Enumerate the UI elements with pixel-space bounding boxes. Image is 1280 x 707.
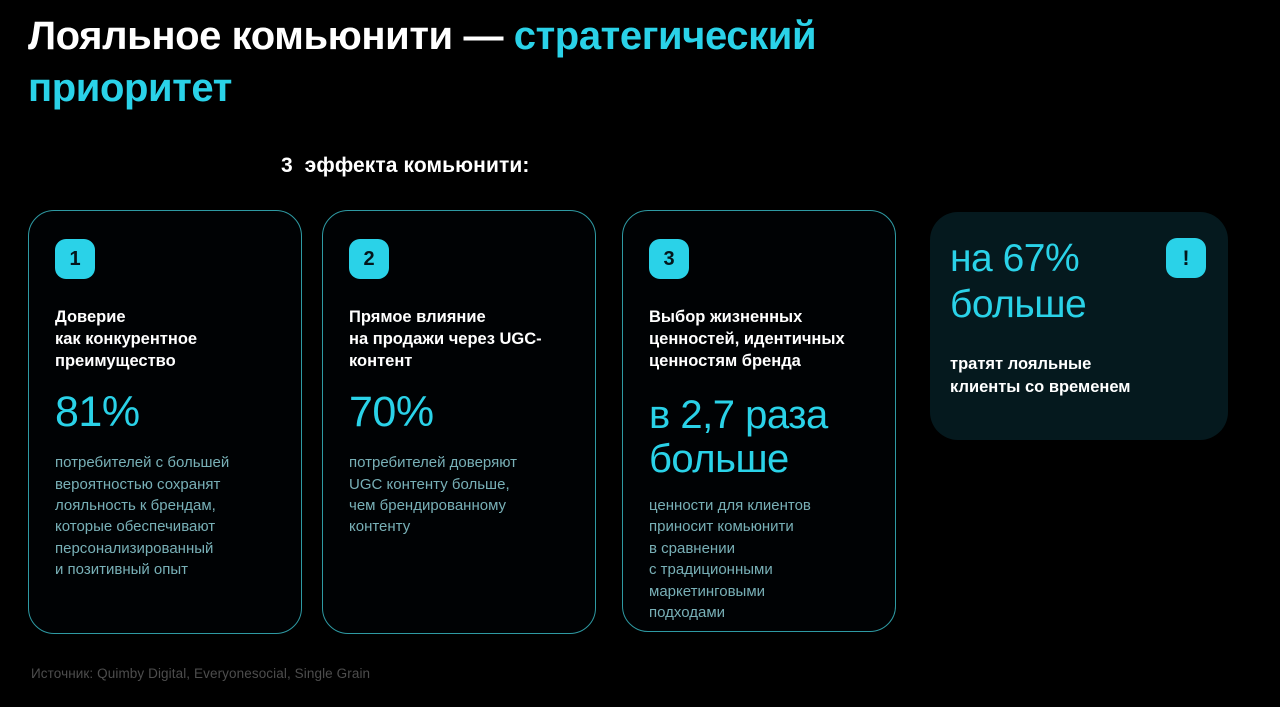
page-title: Лояльное комьюнити — стратегический прио… — [28, 10, 1028, 114]
highlight-statistic: на 67% больше — [950, 236, 1140, 327]
card-statistic: в 2,7 раза больше — [649, 393, 879, 481]
exclamation-icon: ! — [1166, 238, 1206, 278]
card-heading: Прямое влияние на продажи через UGC- кон… — [349, 307, 579, 373]
card-description: потребителей доверяют UGC контенту больш… — [349, 452, 579, 538]
card-number-badge: 2 — [349, 239, 389, 279]
highlight-description: тратят лояльные клиенты со временем — [950, 353, 1212, 398]
effect-card-2: 2 Прямое влияние на продажи через UGC- к… — [322, 210, 596, 634]
card-description: потребителей с большей вероятностью сохр… — [55, 452, 285, 581]
card-heading: Доверие как конкурентное преимущество — [55, 307, 285, 373]
highlight-panel: на 67% больше ! тратят лояльные клиенты … — [930, 212, 1228, 440]
effect-card-3: 3 Выбор жизненных ценностей, идентичных … — [622, 210, 896, 632]
card-number-badge: 3 — [649, 239, 689, 279]
card-statistic: 81% — [55, 389, 285, 436]
source-note: Источник: Quimby Digital, Everyonesocial… — [31, 666, 370, 681]
section-subtitle: 3 эффекта комьюнити: — [281, 154, 529, 178]
effect-card-1: 1 Доверие как конкурентное преимущество … — [28, 210, 302, 634]
card-content: 1 Доверие как конкурентное преимущество … — [55, 239, 285, 581]
card-description: ценности для клиентов приносит комьюнити… — [649, 495, 879, 624]
card-content: 3 Выбор жизненных ценностей, идентичных … — [649, 239, 879, 623]
page-title-main: Лояльное комьюнити — — [28, 14, 514, 58]
card-content: 2 Прямое влияние на продажи через UGC- к… — [349, 239, 579, 538]
card-heading: Выбор жизненных ценностей, идентичных це… — [649, 307, 879, 373]
card-number-badge: 1 — [55, 239, 95, 279]
card-statistic: 70% — [349, 389, 579, 436]
